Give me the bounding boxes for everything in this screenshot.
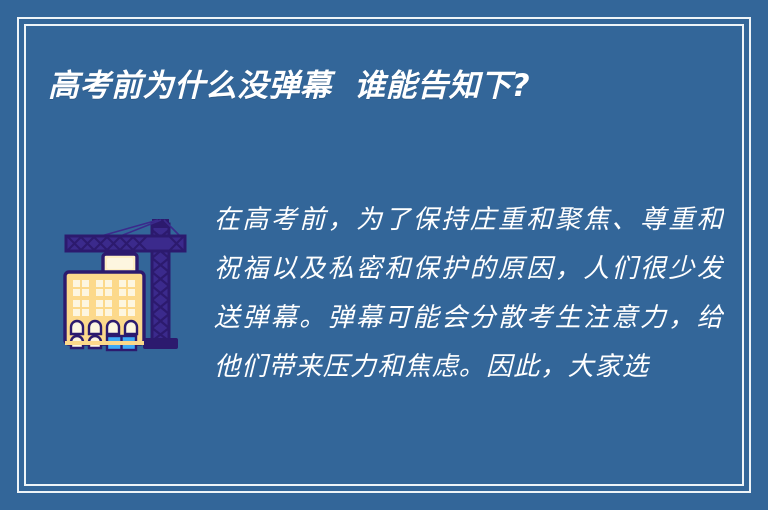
page-title: 高考前为什么没弹幕 谁能告知下? xyxy=(48,62,708,110)
article-body: 在高考前，为了保持庄重和聚焦、尊重和祝福以及私密和保护的原因，人们很少发送弹幕。… xyxy=(200,196,724,392)
article-body-text: 在高考前，为了保持庄重和聚焦、尊重和祝福以及私密和保护的原因，人们很少发送弹幕。… xyxy=(214,196,724,392)
page-title-text: 高考前为什么没弹幕 谁能告知下? xyxy=(48,62,708,110)
crane-building-illustration-svg xyxy=(48,210,200,358)
article-content: 在高考前，为了保持庄重和聚焦、尊重和祝福以及私密和保护的原因，人们很少发送弹幕。… xyxy=(48,196,724,392)
article-card: 高考前为什么没弹幕 谁能告知下? xyxy=(0,0,768,510)
construction-crane-and-building-icon xyxy=(48,196,200,358)
